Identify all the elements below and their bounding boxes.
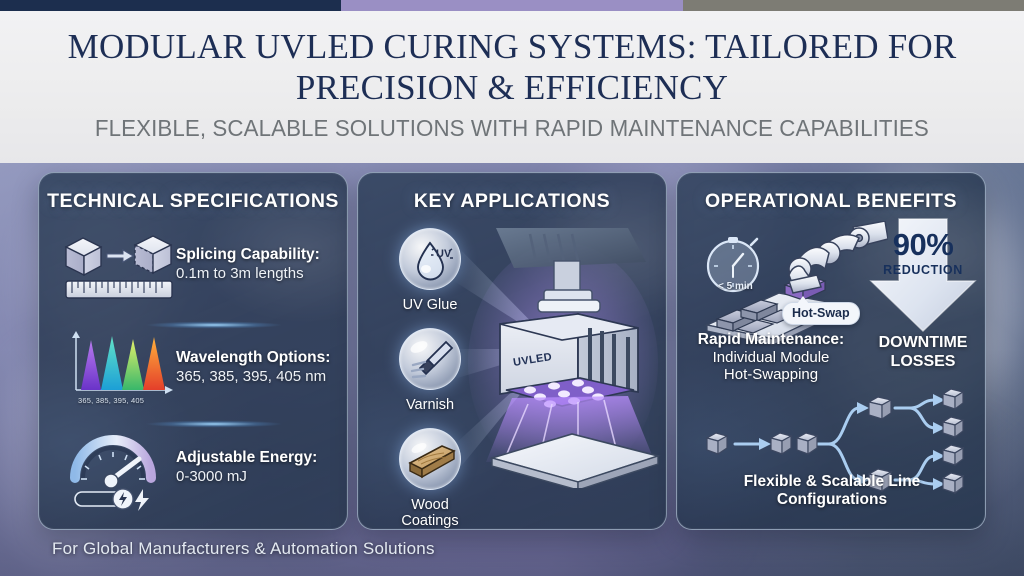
application-varnish[interactable]: Varnish: [384, 328, 476, 413]
application-wood-coatings[interactable]: Wood Coatings: [384, 428, 476, 529]
application-label-varnish: Varnish: [384, 397, 476, 413]
timer-label: < 5 min: [718, 281, 753, 292]
panel-title-applications: KEY APPLICATIONS: [358, 190, 666, 213]
application-label-wood-coatings: Wood Coatings: [384, 497, 476, 529]
panel-title-technical: TECHNICAL SPECIFICATIONS: [39, 190, 347, 213]
infographic-slide: MODULAR UVLED CURING SYSTEMS: TAILORED F…: [0, 0, 1024, 576]
wavelength-spectrum-icon: 365, 385, 395, 405: [59, 328, 181, 415]
page-title: MODULAR UVLED CURING SYSTEMS: TAILORED F…: [42, 26, 982, 108]
spec-head-splicing: Splicing Capability:: [176, 246, 320, 264]
reduction-value: 90%: [863, 227, 983, 263]
splicing-cubes-ruler-icon: [61, 221, 181, 316]
configuration-line-1: Flexible & Scalable Line: [707, 473, 957, 491]
accent-bar-segment-purple: [341, 0, 683, 11]
header: MODULAR UVLED CURING SYSTEMS: TAILORED F…: [0, 11, 1024, 163]
downtime-losses-label: DOWNTIME LOSSES: [853, 333, 986, 371]
uv-droplet-icon: UV: [399, 228, 461, 290]
accent-bar: [0, 0, 1024, 11]
application-uv-glue[interactable]: UV UV Glue: [384, 228, 476, 313]
page-subtitle: FLEXIBLE, SCALABLE SOLUTIONS WITH RAPID …: [95, 115, 929, 142]
panel-key-applications: KEY APPLICATIONS: [357, 172, 667, 530]
downtime-line-2: LOSSES: [853, 352, 986, 371]
hot-swap-badge: Hot-Swap: [782, 302, 860, 325]
maintenance-caption: Rapid Maintenance: Individual Module Hot…: [683, 331, 859, 383]
spec-row-wavelength: Wavelength Options: 365, 385, 395, 405 n…: [176, 349, 330, 385]
configuration-caption: Flexible & Scalable Line Configurations: [707, 473, 957, 509]
application-label-uv-glue: UV Glue: [384, 297, 476, 313]
spec-row-splicing: Splicing Capability: 0.1m to 3m lengths: [176, 246, 320, 282]
accent-bar-segment-gray: [683, 0, 1024, 11]
accent-bar-segment-navy: [0, 0, 341, 11]
spec-head-wavelength: Wavelength Options:: [176, 349, 330, 367]
spectrum-axis-label: 365, 385, 395, 405: [78, 396, 144, 405]
spec-sub-wavelength: 365, 385, 395, 405 nm: [176, 368, 330, 385]
spec-sub-splicing: 0.1m to 3m lengths: [176, 265, 320, 282]
spec-sub-energy: 0-3000 mJ: [176, 468, 317, 485]
maintenance-line-2: Hot-Swapping: [683, 366, 859, 383]
panel-title-benefits: OPERATIONAL BENEFITS: [677, 190, 985, 213]
varnish-brush-icon: [399, 328, 461, 390]
panel-technical-specifications: TECHNICAL SPECIFICATIONS: [38, 172, 348, 530]
wood-plank-icon: [399, 428, 461, 490]
configuration-line-2: Configurations: [707, 491, 957, 509]
footer-text: For Global Manufacturers & Automation So…: [52, 539, 435, 559]
reduction-value-group: 90% REDUCTION: [863, 227, 983, 277]
panel-operational-benefits: OPERATIONAL BENEFITS: [676, 172, 986, 530]
reduction-label: REDUCTION: [863, 263, 983, 277]
downtime-line-1: DOWNTIME: [853, 333, 986, 352]
spec-head-energy: Adjustable Energy:: [176, 449, 317, 467]
spec-row-energy: Adjustable Energy: 0-3000 mJ: [176, 449, 317, 485]
maintenance-line-1: Individual Module: [683, 349, 859, 366]
energy-gauge-icon: [61, 426, 177, 519]
maintenance-head: Rapid Maintenance:: [683, 331, 859, 349]
